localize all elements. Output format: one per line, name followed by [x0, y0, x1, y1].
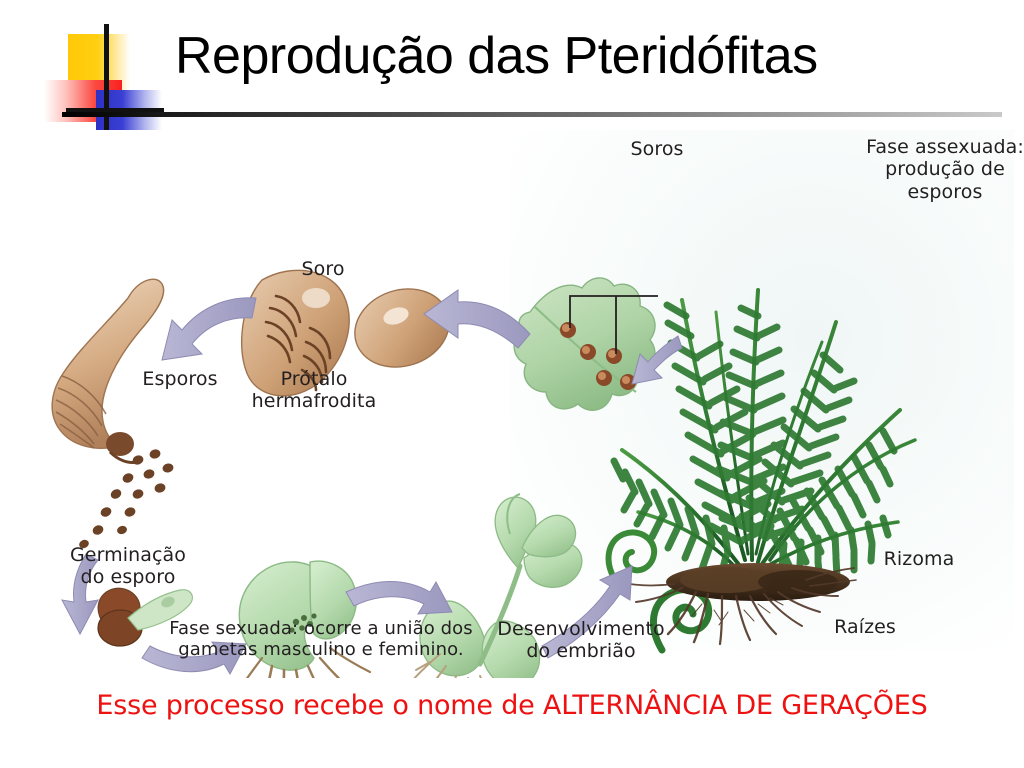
- page-title: Reprodução das Pteridófitas: [175, 28, 1005, 85]
- label-germinacao: Germinação do esporo: [48, 544, 208, 589]
- label-soro: Soro: [268, 258, 378, 280]
- label-rizoma: Rizoma: [864, 548, 974, 570]
- decorative-logo: [44, 24, 164, 124]
- label-desenvolvimento: Desenvolvimento do embrião: [476, 618, 686, 663]
- label-fase-assexuada: Fase assexuada: produção de esporos: [860, 136, 1024, 203]
- label-fase-sexuada: Fase sexuada: ocorre a união dos gametas…: [146, 618, 496, 660]
- sorus-closed-figure: [345, 277, 460, 379]
- label-esporos: Esporos: [120, 368, 240, 390]
- diagram-artwork: [10, 130, 1014, 678]
- arrow-prothallus-to-sporophyte: [346, 582, 452, 615]
- spores-figure: [78, 448, 175, 550]
- label-raizes: Raízes: [810, 616, 920, 638]
- slide-caption: Esse processo recebe o nome de ALTERNÂNC…: [0, 690, 1024, 721]
- adult-fern-figure: [609, 290, 915, 650]
- title-divider: [62, 112, 1002, 117]
- life-cycle-diagram: Soros Fase assexuada: produção de esporo…: [10, 130, 1014, 678]
- label-soros: Soros: [602, 138, 712, 160]
- label-protalo: Prótalo hermafrodita: [234, 368, 394, 413]
- fern-leaflet-figure: [514, 278, 658, 410]
- title-area: Reprodução das Pteridófitas: [0, 0, 1024, 130]
